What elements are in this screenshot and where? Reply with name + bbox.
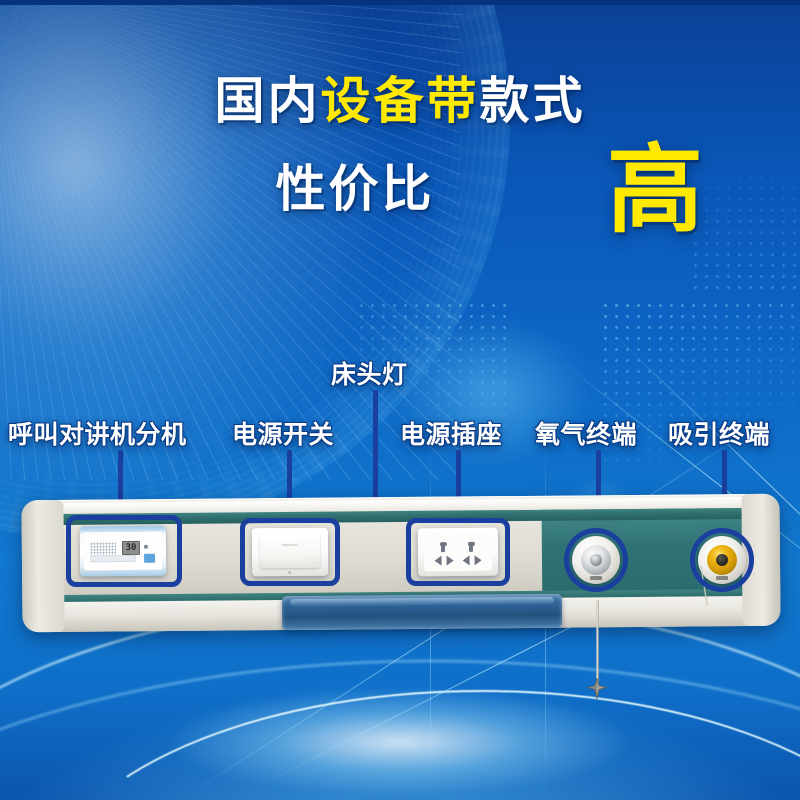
callout-label-power-socket: 电源插座 xyxy=(400,415,502,451)
headline-line-1-emphasis: 设备带 xyxy=(321,72,480,130)
headline-line-1-part-2: 款式 xyxy=(480,72,586,130)
headline-line-1: 国内设备带款式 xyxy=(0,76,800,126)
highlight-box-power-socket xyxy=(406,518,510,586)
bed-lamp-diffuser[interactable] xyxy=(282,594,562,630)
top-edge-bar xyxy=(0,0,800,5)
pull-cord[interactable] xyxy=(596,600,599,682)
headline-line-2: 性价比 xyxy=(276,164,435,214)
highlight-circle-suction-terminal xyxy=(690,528,754,592)
headline-block: 国内设备带款式 xyxy=(0,76,800,126)
callout-label-oxygen-terminal: 氧气终端 xyxy=(535,415,637,451)
callout-label-power-switch: 电源开关 xyxy=(232,415,334,451)
promo-banner: 国内设备带款式 性价比 高 呼叫对讲机分机 电源开关 床头灯 电源插座 氧气终端… xyxy=(0,0,800,800)
pull-cord-weight[interactable] xyxy=(586,678,608,700)
bed-lamp-gloss xyxy=(290,597,554,607)
highlight-circle-oxygen-terminal xyxy=(564,528,628,592)
callout-label-suction-terminal: 吸引终端 xyxy=(668,415,770,451)
highlight-box-nurse-call-intercom xyxy=(66,515,182,587)
highlight-box-power-switch xyxy=(240,518,340,586)
callout-label-nurse-call-intercom: 呼叫对讲机分机 xyxy=(8,415,187,451)
headline-emphasis-character: 高 xyxy=(607,142,703,238)
halftone-dots-top-right xyxy=(690,150,800,290)
headline-line-1-part-1: 国内 xyxy=(215,72,321,130)
callout-label-bed-lamp: 床头灯 xyxy=(331,355,408,391)
panel-end-cap-left xyxy=(21,500,64,632)
